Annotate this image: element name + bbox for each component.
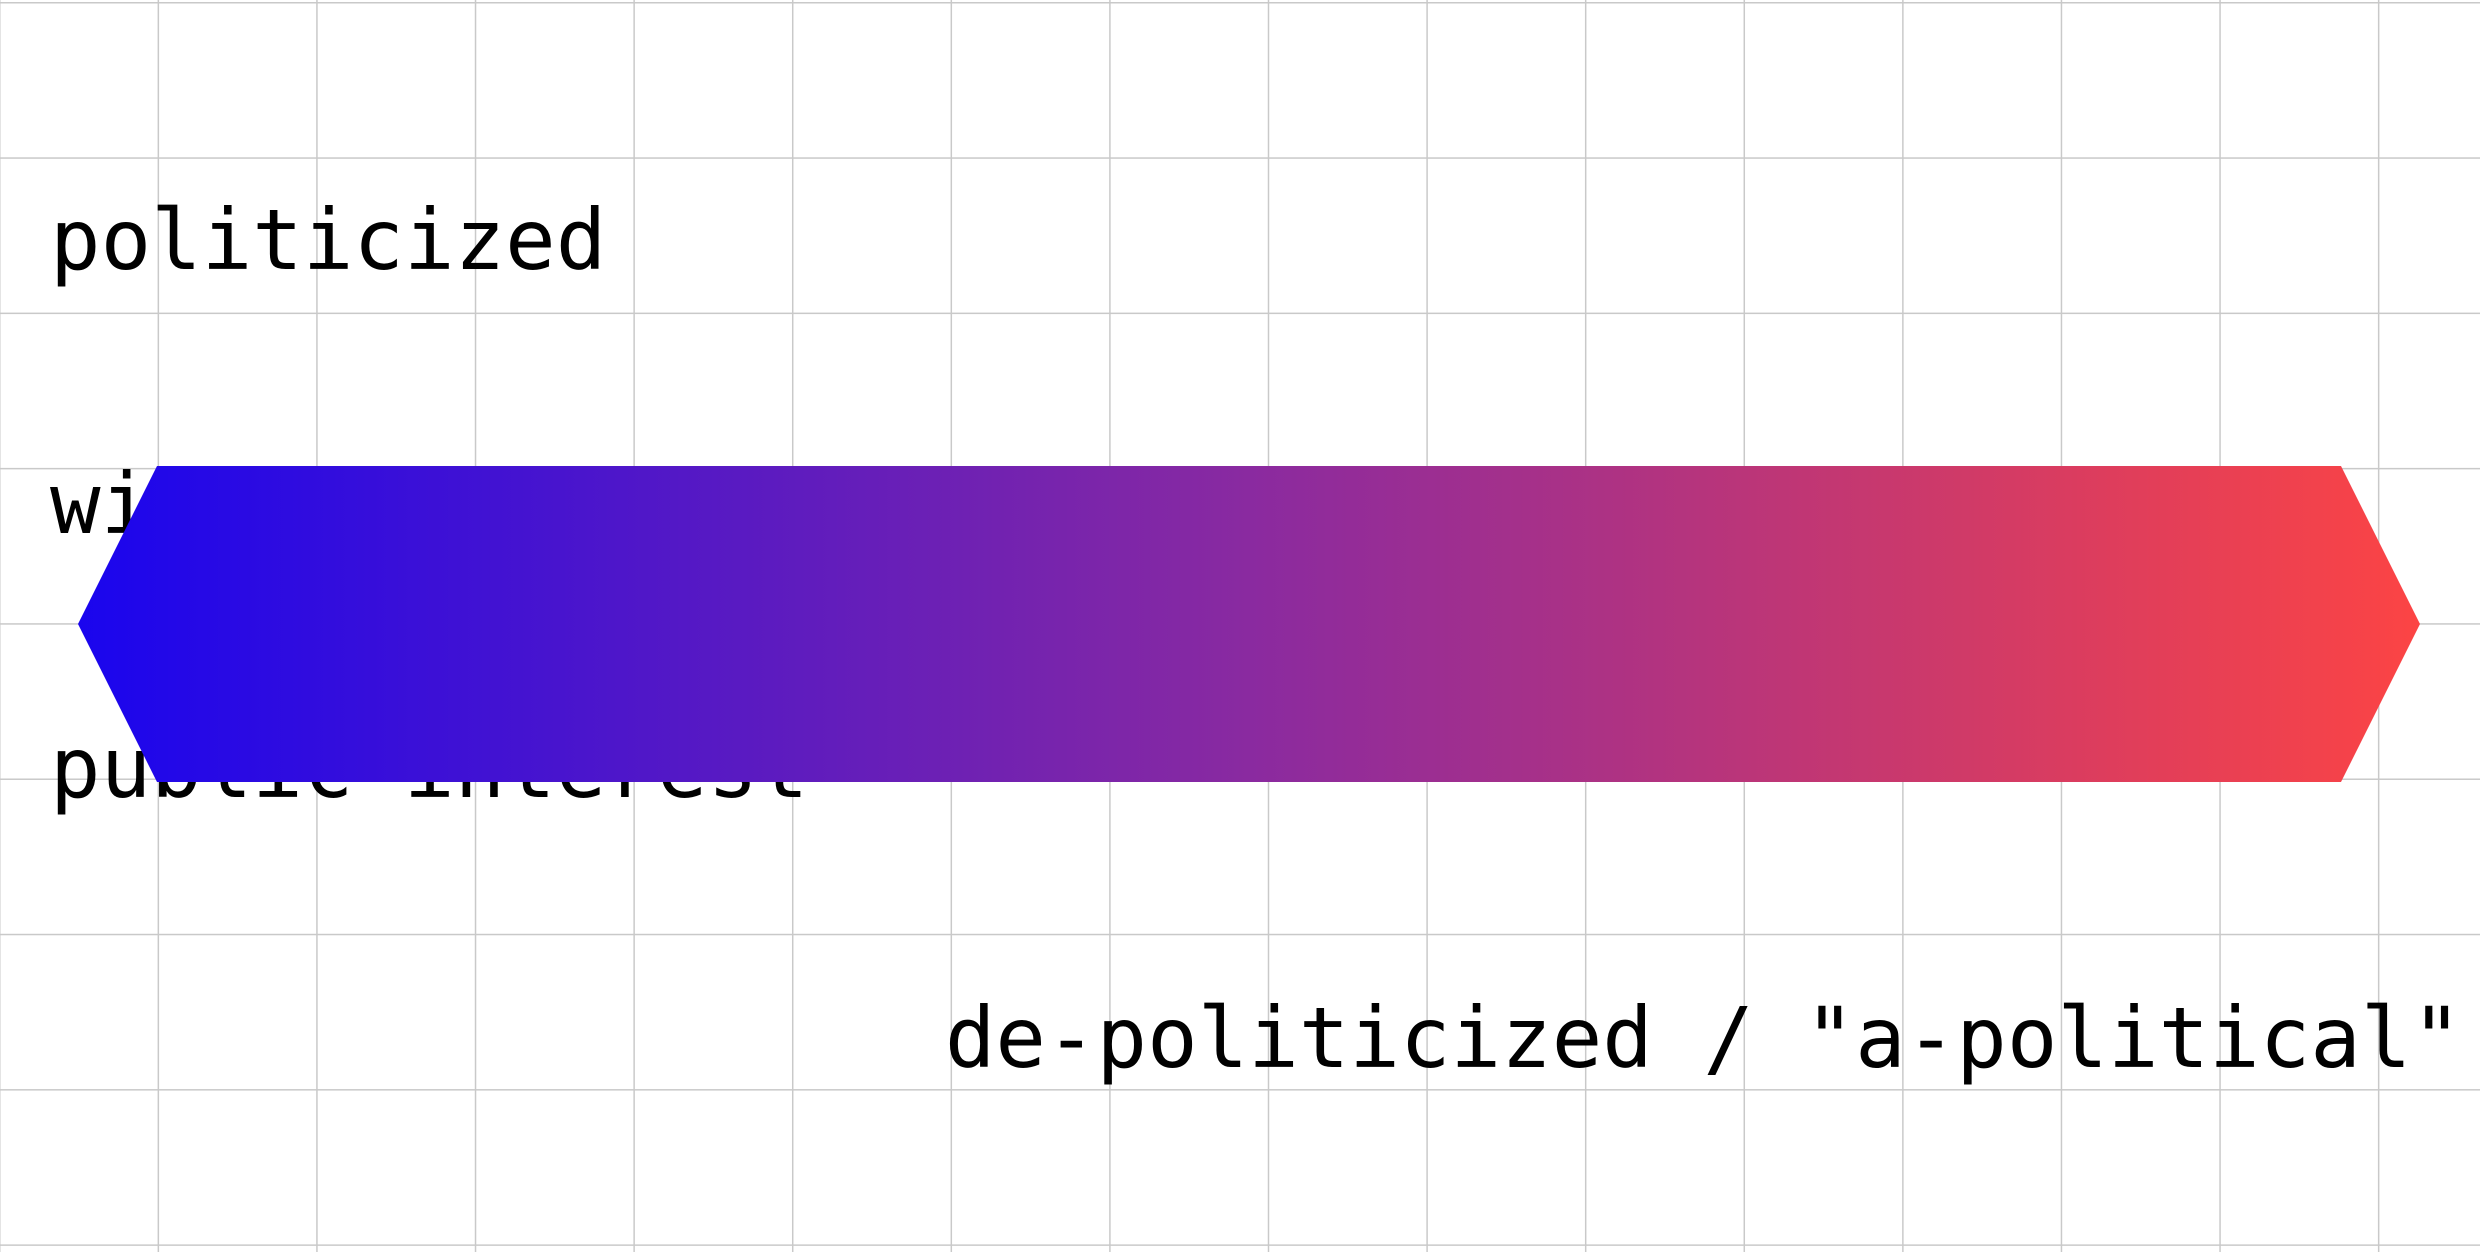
right-pole-label-group: de-politicized / "a-political" will of t…: [945, 818, 2462, 1252]
left-pole-line-1: politicized: [50, 196, 910, 284]
diagram-canvas: politicized will of the group public int…: [0, 0, 2480, 1252]
spectrum-arrow-svg: [78, 466, 2420, 782]
right-pole-line-1: de-politicized / "a-political": [945, 994, 2462, 1082]
arrow-body-shape: [78, 466, 2420, 782]
spectrum-double-arrow: [78, 466, 2420, 782]
